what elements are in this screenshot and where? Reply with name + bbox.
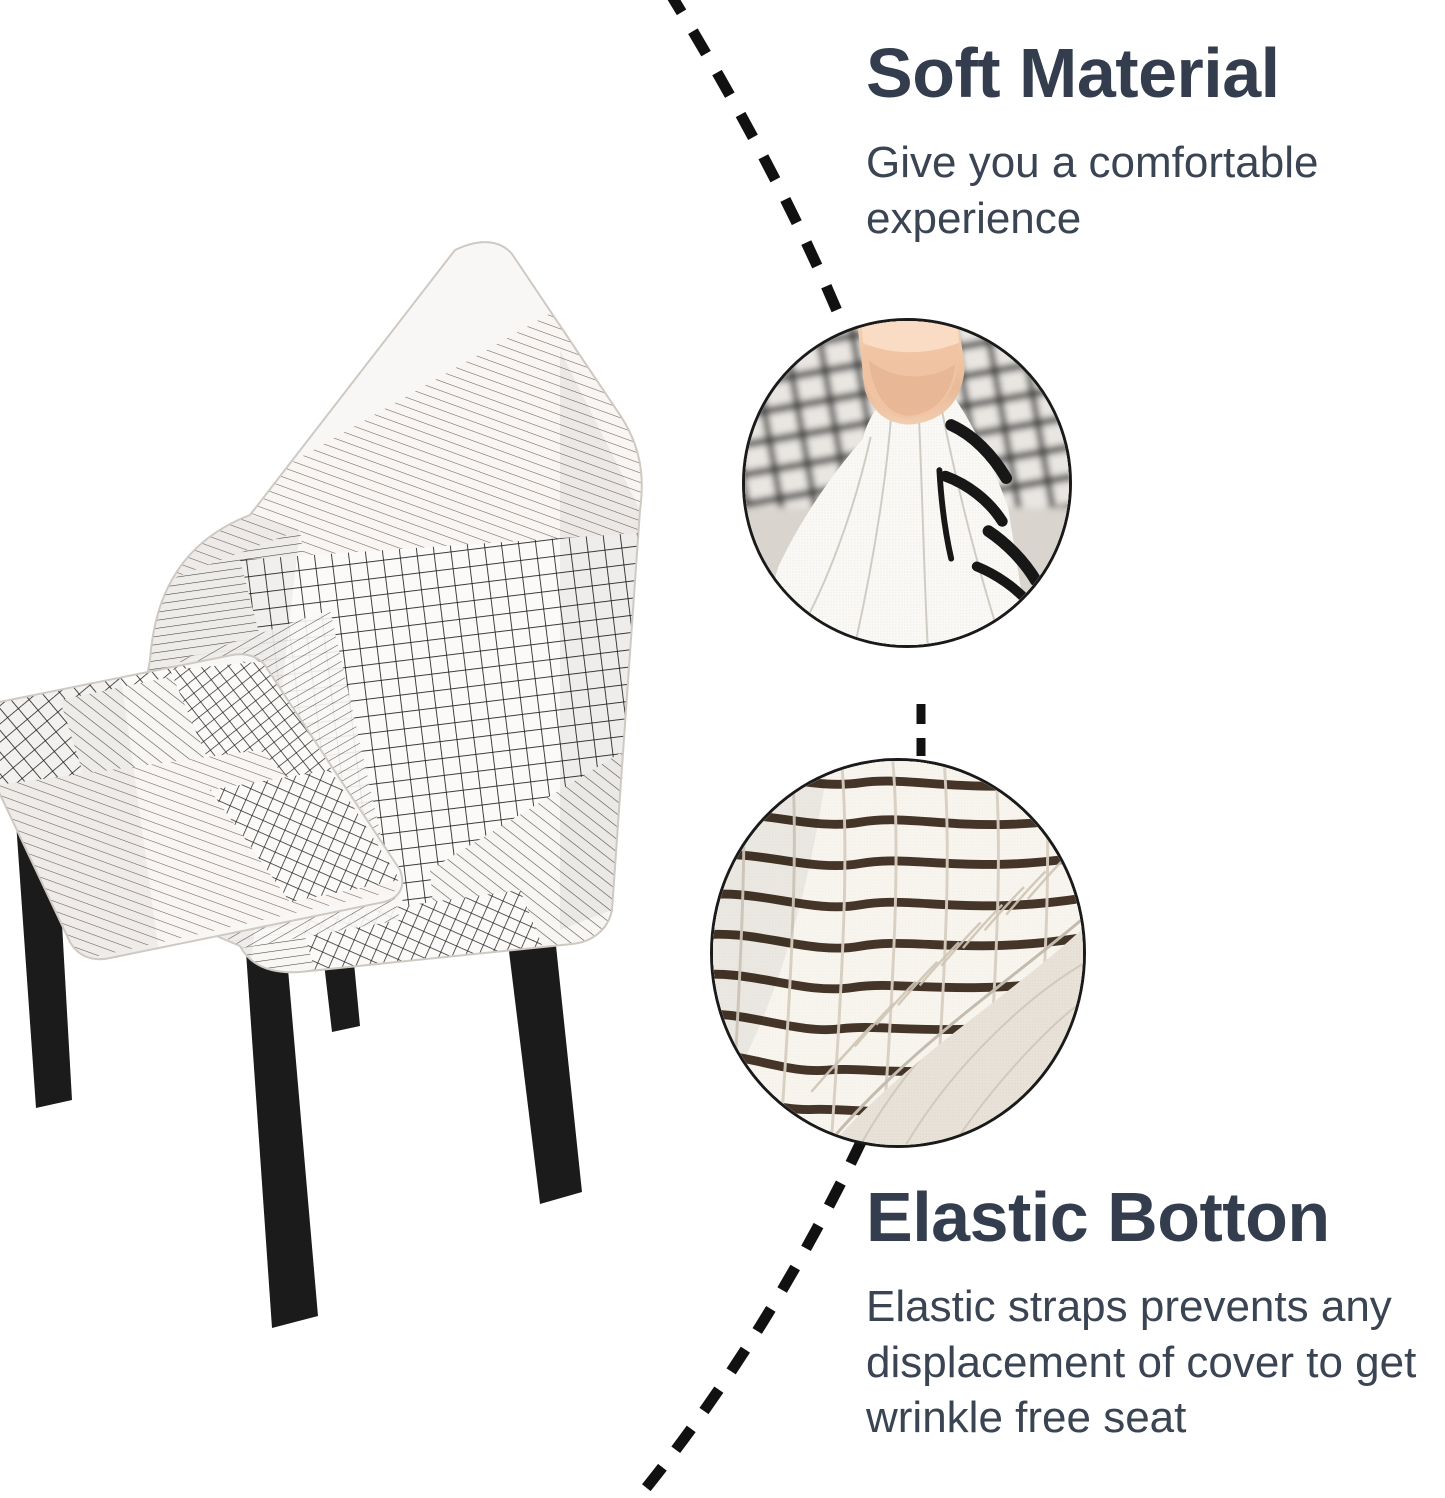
feature-title-soft-material: Soft Material xyxy=(866,38,1445,109)
feature-elastic-bottom: Elastic Botton Elastic straps prevents a… xyxy=(866,1182,1445,1446)
finger-pinching-fabric-photo xyxy=(742,318,1072,648)
feature-title-elastic-bottom: Elastic Botton xyxy=(866,1182,1445,1253)
feature-soft-material: Soft Material Give you a comfortable exp… xyxy=(866,38,1445,246)
infographic-canvas: Soft Material Give you a comfortable exp… xyxy=(0,0,1445,1498)
feature-description-elastic-bottom: Elastic straps prevents any displacement… xyxy=(866,1279,1445,1445)
elastic-hem-closeup-photo xyxy=(710,758,1086,1148)
feature-description-soft-material: Give you a comfortable experience xyxy=(866,135,1445,246)
chair-with-slipcover-photo xyxy=(0,230,740,1350)
